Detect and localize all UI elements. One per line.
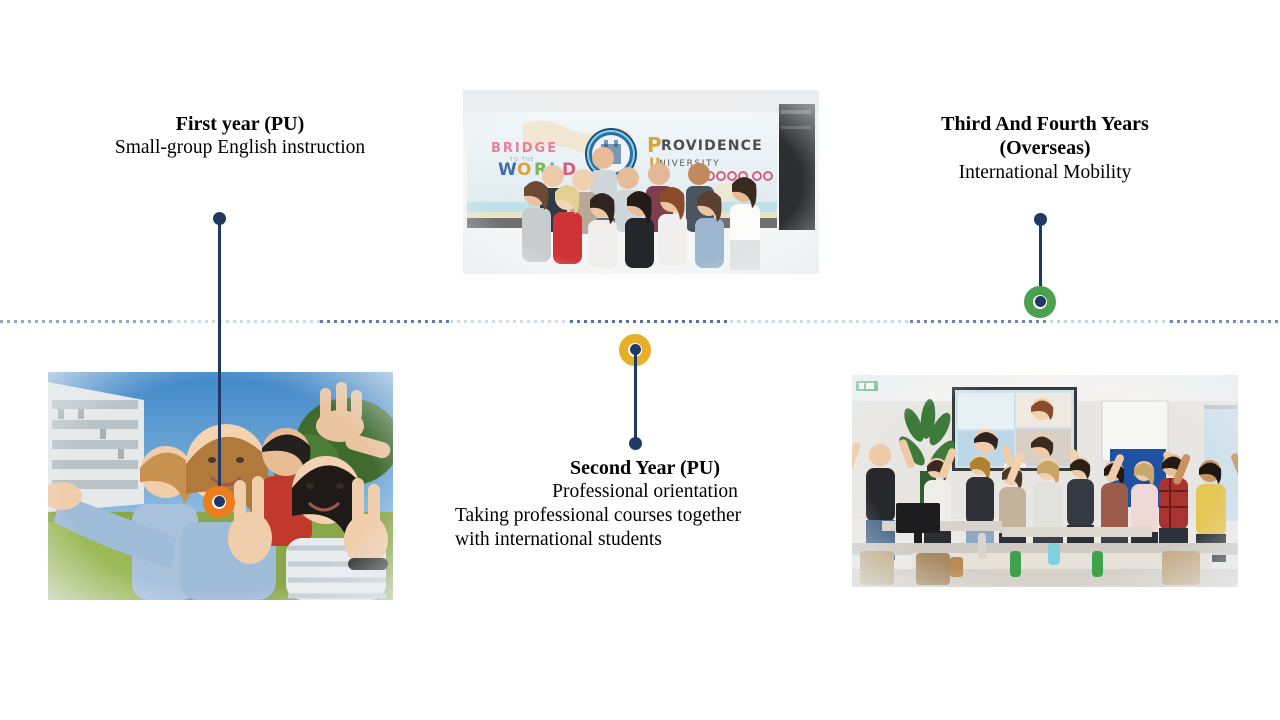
svg-text:ROVIDENCE: ROVIDENCE <box>661 138 763 154</box>
photo-inner <box>852 375 1238 587</box>
donut-center-dot-icon <box>214 496 225 507</box>
donut-center-dot-icon <box>630 344 641 355</box>
photo-artwork: BRIDGE TO THE W O R L D P ROVIDENCE NIVE… <box>463 90 819 274</box>
pin-stem-icon <box>218 222 221 494</box>
milestone-caption-second-year: Second Year (PU) Professional orientatio… <box>455 456 835 552</box>
group-photo-providence-wall: BRIDGE TO THE W O R L D P ROVIDENCE NIVE… <box>463 90 819 274</box>
milestone-detail-line: with international students <box>455 528 835 552</box>
axis-segment <box>320 320 450 323</box>
timeline-marker-third-fourth-year[interactable] <box>1022 213 1062 331</box>
axis-segment <box>0 320 170 323</box>
photo-inner: BRIDGE TO THE W O R L D P ROVIDENCE NIVE… <box>463 90 819 274</box>
timeline-marker-first-year[interactable] <box>201 212 241 322</box>
milestone-detail-line: Professional orientation <box>455 480 835 504</box>
milestone-heading: First year (PU) <box>40 112 440 136</box>
timeline-axis <box>0 320 1280 324</box>
slide-canvas: BRIDGE TO THE W O R L D P ROVIDENCE NIVE… <box>0 0 1280 720</box>
timeline-marker-second-year[interactable] <box>617 334 657 450</box>
donut-center-dot-icon <box>1035 296 1046 307</box>
milestone-detail-line: Small-group English instruction <box>40 136 440 160</box>
axis-segment <box>1050 320 1170 323</box>
axis-segment <box>450 320 570 323</box>
svg-text:W: W <box>498 160 519 180</box>
milestone-detail-line: International Mobility <box>895 161 1195 185</box>
svg-text:O: O <box>517 160 533 180</box>
axis-segment <box>170 320 320 323</box>
svg-text:BRIDGE: BRIDGE <box>491 141 558 156</box>
milestone-detail-line: Taking professional courses together <box>455 504 835 528</box>
axis-segment <box>570 320 730 323</box>
svg-text:NIVERSITY: NIVERSITY <box>659 159 720 169</box>
pin-stem-icon <box>634 348 637 446</box>
milestone-caption-third-fourth-year: Third And Fourth Years (Overseas) Intern… <box>895 112 1195 185</box>
photo-artwork <box>852 375 1238 587</box>
axis-segment <box>1170 320 1280 323</box>
axis-segment <box>730 320 910 323</box>
svg-text:P: P <box>647 133 662 157</box>
milestone-heading: Second Year (PU) <box>455 456 835 480</box>
classroom-video-call-celebration <box>852 375 1238 587</box>
milestone-heading-line-1: Third And Fourth Years <box>895 112 1195 136</box>
pin-head-icon <box>629 437 642 450</box>
milestone-caption-first-year: First year (PU) Small-group English inst… <box>40 112 440 160</box>
milestone-heading-line-2: (Overseas) <box>895 136 1195 160</box>
